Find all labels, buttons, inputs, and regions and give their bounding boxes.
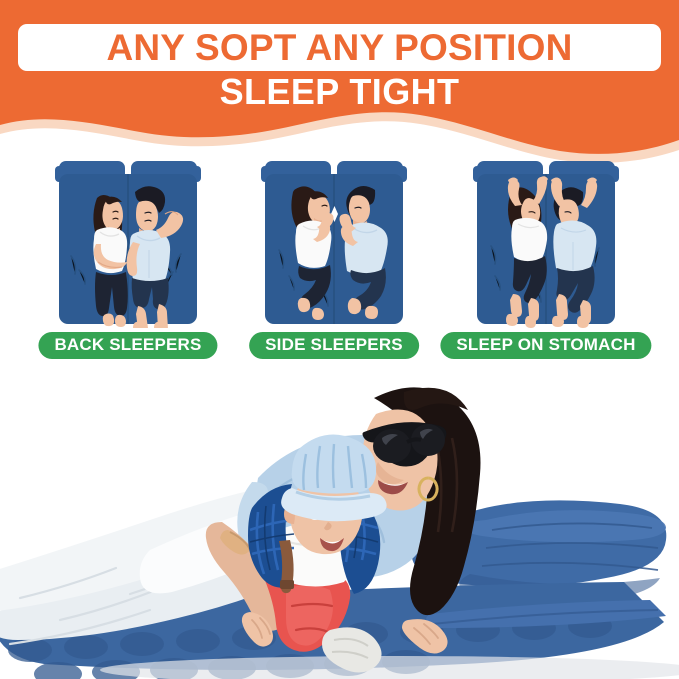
infographic-root: ANY SOPT ANY POSITION SLEEP TIGHT [0, 0, 679, 679]
illustration-back-sleepers [53, 158, 203, 333]
headline-line-2: SLEEP TIGHT [0, 74, 679, 110]
headline-box: ANY SOPT ANY POSITION [18, 24, 661, 71]
lifestyle-photo [0, 362, 679, 679]
illustration-side-sleepers [259, 158, 409, 333]
headline-line-1: ANY SOPT ANY POSITION [106, 29, 572, 66]
label-sleep-on-stomach: SLEEP ON STOMACH [440, 332, 651, 359]
label-side-sleepers: SIDE SLEEPERS [249, 332, 419, 359]
header-banner: ANY SOPT ANY POSITION SLEEP TIGHT [0, 0, 679, 175]
illustration-sleep-on-stomach [471, 158, 621, 333]
panel-side-sleepers: SIDE SLEEPERS [228, 150, 440, 365]
panel-back-sleepers: BACK SLEEPERS [22, 150, 234, 365]
label-back-sleepers: BACK SLEEPERS [38, 332, 217, 359]
panel-sleep-on-stomach: SLEEP ON STOMACH [440, 150, 652, 365]
photo-illustration [0, 362, 679, 679]
sleep-positions-row: BACK SLEEPERS [0, 150, 679, 365]
